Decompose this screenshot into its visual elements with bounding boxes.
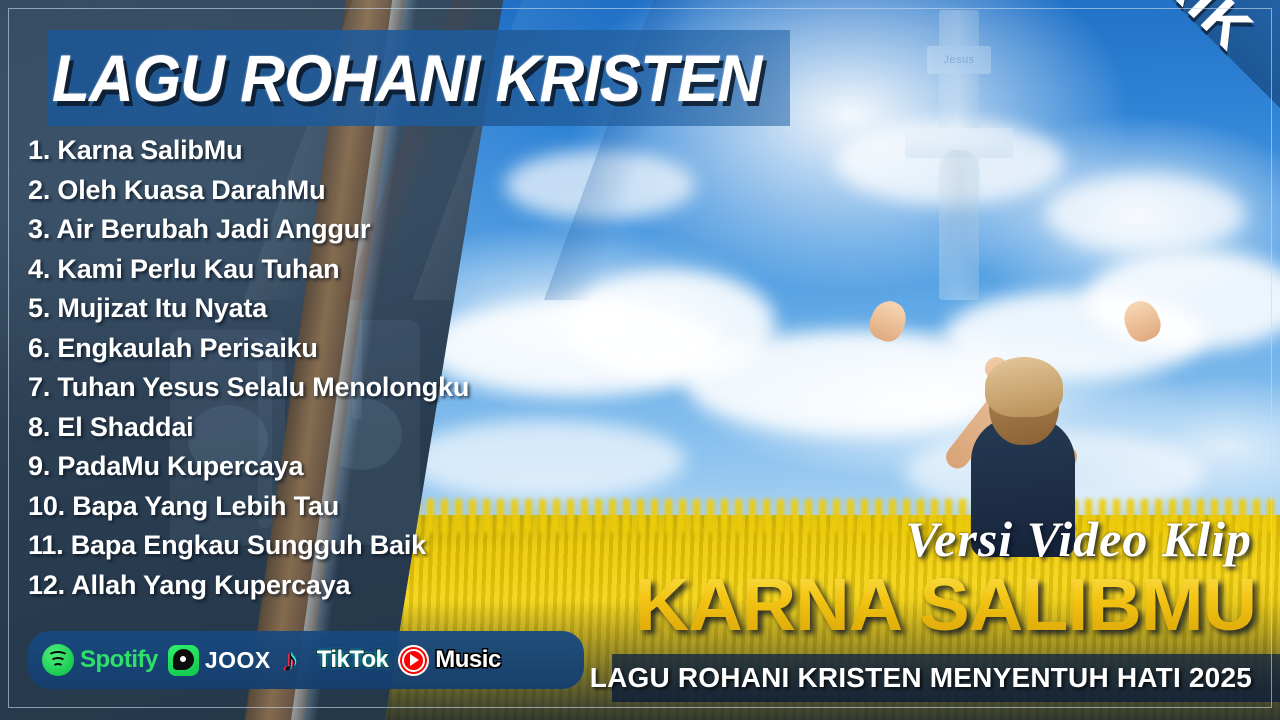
badge-label: TikTok — [317, 646, 389, 674]
list-item: 9. PadaMu Kupercaya — [28, 447, 588, 487]
list-item: 5. Mujizat Itu Nyata — [28, 289, 588, 329]
badge-spotify[interactable]: Spotify — [42, 644, 158, 676]
lirik-corner-ribbon: LIRIK — [1084, 0, 1280, 196]
list-item: 6. Engkaulah Perisaiku — [28, 329, 588, 369]
list-item: 10. Bapa Yang Lebih Tau — [28, 487, 588, 527]
joox-icon — [168, 645, 199, 676]
badge-label: JOOX — [205, 647, 271, 674]
list-item: 11. Bapa Engkau Sungguh Baik — [28, 526, 588, 566]
badge-joox[interactable]: JOOX — [168, 645, 271, 676]
badge-tiktok[interactable]: ♪♪♪ TikTok — [281, 644, 389, 676]
badge-youtube-music[interactable]: Music — [398, 645, 501, 676]
platform-badge-bar: Spotify JOOX ♪♪♪ TikTok Music — [28, 631, 584, 689]
list-item: 7. Tuhan Yesus Selalu Menolongku — [28, 368, 588, 408]
subtitle-text: LAGU ROHANI KRISTEN MENYENTUH HATI 2025 — [590, 662, 1252, 694]
tiktok-icon: ♪♪♪ — [281, 644, 311, 676]
youtube-music-icon — [398, 645, 429, 676]
badge-label: Spotify — [80, 646, 158, 674]
list-item: 1. Karna SalibMu — [28, 131, 588, 171]
list-item: 12. Allah Yang Kupercaya — [28, 566, 588, 606]
list-item: 4. Kami Perlu Kau Tuhan — [28, 250, 588, 290]
badge-label: Music — [435, 646, 501, 674]
page-title: LAGU ROHANI KRISTEN — [52, 34, 785, 122]
spotify-icon — [42, 644, 74, 676]
cross-plate-text: Jesus — [927, 46, 991, 74]
list-item: 2. Oleh Kuasa DarahMu — [28, 171, 588, 211]
list-item: 3. Air Berubah Jadi Anggur — [28, 210, 588, 250]
tracklist: 1. Karna SalibMu 2. Oleh Kuasa DarahMu 3… — [28, 131, 588, 605]
version-label: Versi Video Klip — [905, 510, 1252, 568]
song-title: KARNA SALIBMU — [635, 568, 1256, 642]
list-item: 8. El Shaddai — [28, 408, 588, 448]
youtube-thumbnail: Jesus LAGU ROHANI KRISTEN 1. Karna Salib… — [0, 0, 1280, 720]
